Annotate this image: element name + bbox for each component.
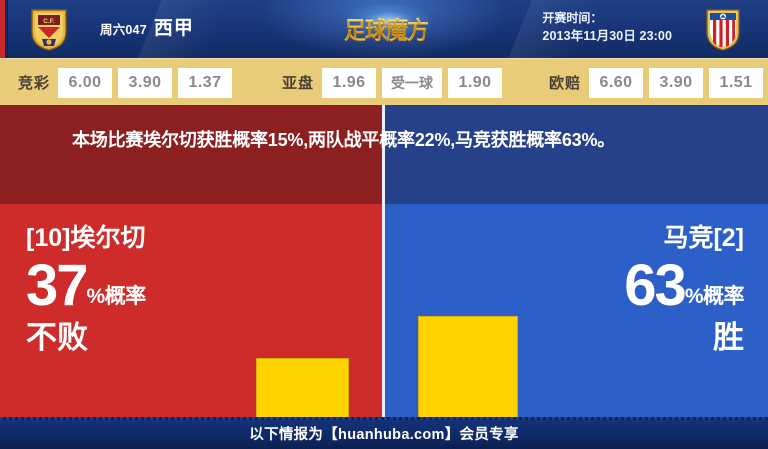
odds-bar: 竞彩 6.00 3.90 1.37 亚盘 1.96 受一球 1.90 欧赔 6.… — [0, 58, 768, 107]
away-panel: 马竞[2] 63 %概率 胜 — [624, 226, 744, 353]
chart-divider — [382, 204, 385, 417]
away-probability-line: 63 %概率 — [624, 259, 744, 312]
footer-bar: 以下情报为【huanhuba.com】会员专享 — [0, 417, 768, 449]
home-team-name: [10]埃尔切 — [26, 226, 146, 251]
odds-jingcai-home[interactable]: 6.00 — [58, 68, 112, 98]
header-left-navy-stripe — [5, 0, 8, 58]
match-league: 西甲 — [154, 13, 194, 40]
elche-cf-crest: C.F. — [26, 6, 72, 52]
site-logo: 足球魔方 — [326, 4, 446, 54]
away-verdict: 胜 — [624, 322, 744, 353]
summary-text: 本场比赛埃尔切获胜概率15%,两队战平概率22%,马竞获胜概率63%。 — [72, 127, 712, 155]
odds-asian-home[interactable]: 1.96 — [322, 68, 376, 98]
kickoff-time: 2013年11月30日 23:00 — [542, 27, 672, 45]
odds-group-label-asian: 亚盘 — [282, 72, 314, 93]
odds-group-jingcai: 竞彩 6.00 3.90 1.37 — [18, 68, 232, 98]
match-label: 周六047 西甲 — [100, 13, 194, 40]
bar-away-probability — [418, 316, 518, 417]
odds-jingcai-draw[interactable]: 3.90 — [118, 68, 172, 98]
odds-group-label-euro: 欧赔 — [549, 72, 581, 93]
match-probability-infographic: C.F. 周六047 西甲 足球魔方 开赛时间： 2013年11月30日 23:… — [0, 0, 768, 449]
kickoff-info: 开赛时间： 2013年11月30日 23:00 — [542, 10, 672, 46]
odds-group-asian: 亚盘 1.96 受一球 1.90 — [282, 68, 502, 98]
odds-euro-home[interactable]: 6.60 — [589, 68, 643, 98]
away-team-name: 马竞[2] — [624, 226, 744, 251]
atletico-madrid-crest — [700, 6, 746, 52]
footer-text: 以下情报为【huanhuba.com】会员专享 — [249, 423, 519, 444]
odds-group-label-jingcai: 竞彩 — [18, 72, 50, 93]
bar-home-probability — [256, 358, 349, 417]
probability-chart: [10]埃尔切 37 %概率 不败 马竞[2] 63 %概率 胜 — [0, 204, 768, 417]
odds-jingcai-away[interactable]: 1.37 — [178, 68, 232, 98]
kickoff-label: 开赛时间： — [542, 10, 672, 27]
home-panel: [10]埃尔切 37 %概率 不败 — [26, 226, 146, 353]
home-verdict: 不败 — [26, 322, 146, 353]
match-round: 周六047 — [100, 19, 147, 38]
odds-euro-draw[interactable]: 3.90 — [649, 68, 703, 98]
home-probability-value: 37 — [26, 259, 87, 312]
svg-text:C.F.: C.F. — [43, 18, 55, 25]
away-probability-value: 63 — [624, 259, 685, 312]
odds-asian-away[interactable]: 1.90 — [448, 68, 502, 98]
odds-group-euro: 欧赔 6.60 3.90 1.51 — [549, 68, 763, 98]
home-probability-line: 37 %概率 — [26, 259, 146, 312]
header-bar: C.F. 周六047 西甲 足球魔方 开赛时间： 2013年11月30日 23:… — [0, 0, 768, 58]
footer-top-strip — [0, 417, 768, 420]
site-logo-text: 足球魔方 — [344, 12, 428, 47]
away-probability-unit: %概率 — [685, 286, 744, 312]
odds-euro-away[interactable]: 1.51 — [709, 68, 763, 98]
home-probability-unit: %概率 — [87, 286, 146, 312]
summary-banner: 本场比赛埃尔切获胜概率15%,两队战平概率22%,马竞获胜概率63%。 — [0, 105, 768, 204]
odds-asian-handicap[interactable]: 受一球 — [382, 68, 442, 98]
